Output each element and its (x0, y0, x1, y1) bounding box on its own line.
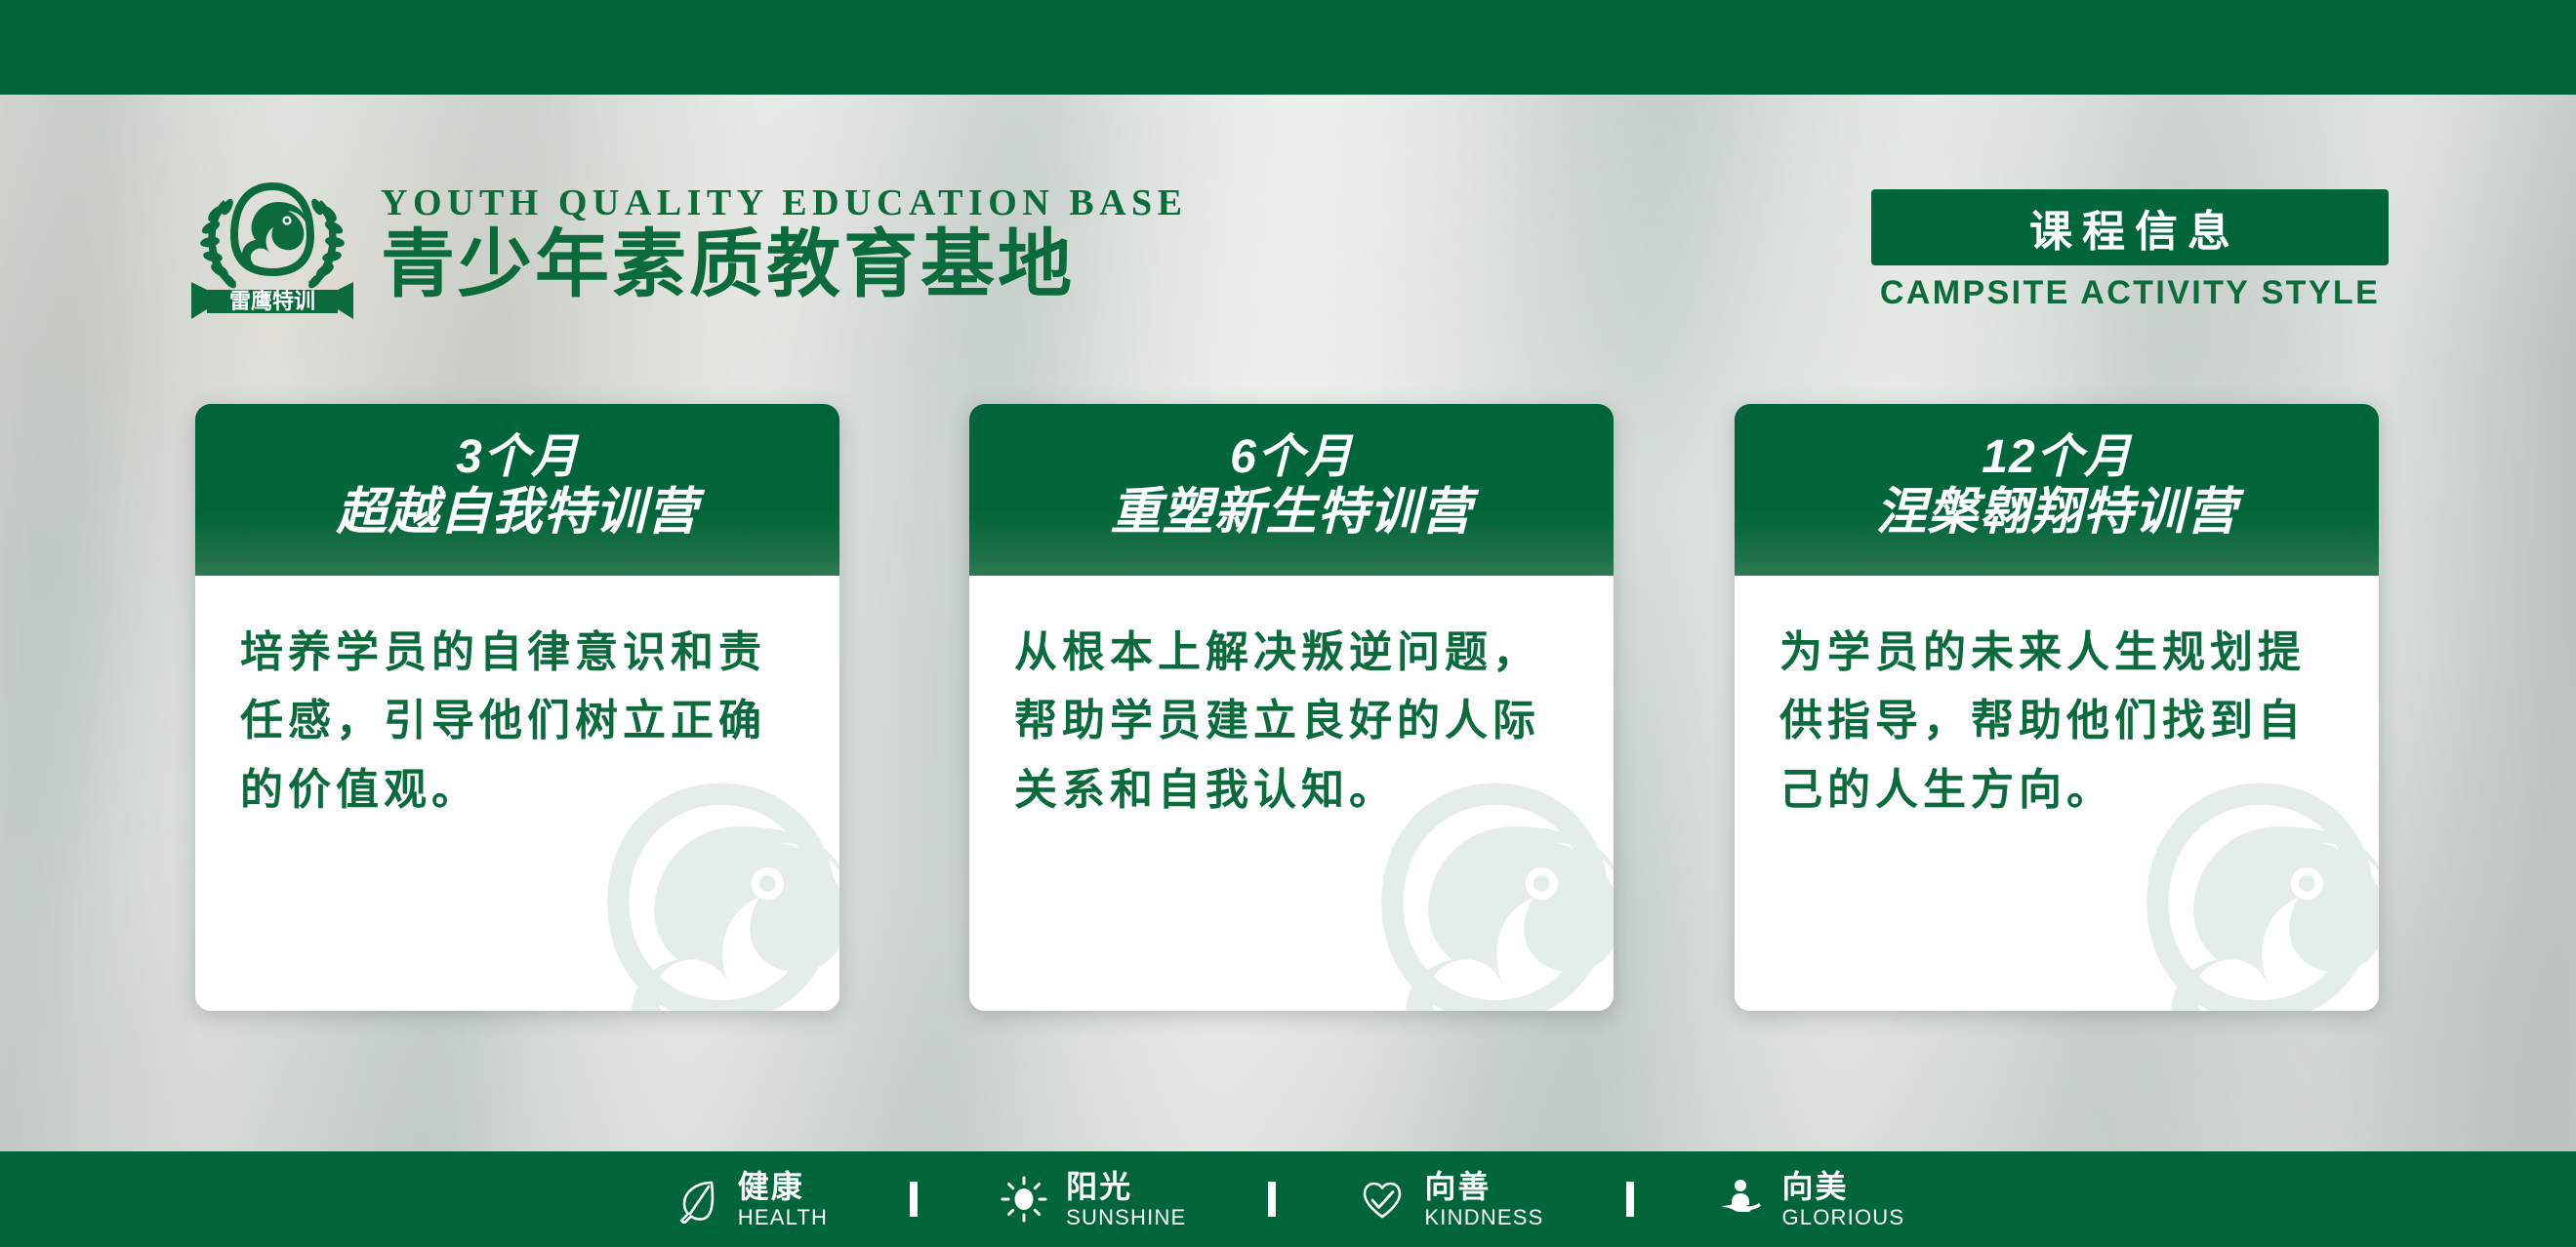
value-item-kindness[interactable]: 向善 KINDNESS (1358, 1171, 1543, 1228)
value-label-en: KINDNESS (1424, 1207, 1543, 1228)
course-cards-row: 3个月 超越自我特训营 培养学员的自律意识和责任感，引导他们树立正确的价值观。 … (0, 404, 2576, 1011)
course-card[interactable]: 3个月 超越自我特训营 培养学员的自律意识和责任感，引导他们树立正确的价值观。 (195, 404, 839, 1011)
value-label-cn: 向善 (1424, 1171, 1543, 1202)
brand-english-tagline: YOUTH QUALITY EDUCATION BASE (381, 181, 1188, 224)
card-duration: 6个月 (1230, 431, 1353, 484)
value-labels: 向善 KINDNESS (1424, 1171, 1543, 1228)
card-name: 涅槃翱翔特训营 (1875, 484, 2237, 541)
card-name: 重塑新生特训营 (1110, 484, 1472, 541)
value-divider (1626, 1182, 1634, 1217)
card-header: 6个月 重塑新生特训营 (969, 404, 1614, 576)
value-labels: 向美 GLORIOUS (1782, 1171, 1905, 1228)
heart-check-icon (1358, 1175, 1407, 1224)
value-label-en: GLORIOUS (1782, 1207, 1905, 1228)
value-divider (1268, 1182, 1276, 1217)
value-item-sunshine[interactable]: 阳光 SUNSHINE (1000, 1171, 1186, 1228)
page-header: 雷鹰特训 YOUTH QUALITY EDUCATION BASE 青少年素质教… (0, 95, 2576, 319)
badge-title-en: CAMPSITE ACTIVITY STYLE (1871, 274, 2389, 312)
card-name: 超越自我特训营 (336, 484, 698, 541)
value-label-cn: 健康 (738, 1171, 828, 1202)
value-divider (910, 1182, 918, 1217)
leaf-icon (672, 1175, 720, 1224)
card-body: 培养学员的自律意识和责任感，引导他们树立正确的价值观。 (195, 576, 839, 1011)
course-info-badge-block: 课程信息 CAMPSITE ACTIVITY STYLE (1871, 189, 2389, 312)
value-label-en: HEALTH (738, 1207, 828, 1228)
card-description: 培养学员的自律意识和责任感，引导他们树立正确的价值观。 (195, 576, 839, 825)
value-label-en: SUNSHINE (1066, 1207, 1186, 1228)
core-values-bar: 健康 HEALTH 阳光 SUNSHINE (0, 1151, 2576, 1247)
hand-person-icon (1716, 1175, 1765, 1224)
card-duration: 12个月 (1982, 431, 2131, 484)
card-header: 3个月 超越自我特训营 (195, 404, 839, 576)
value-labels: 健康 HEALTH (738, 1171, 828, 1228)
badge-title-cn: 课程信息 (2020, 196, 2240, 259)
emblem-ribbon-text: 雷鹰特训 (229, 289, 315, 313)
top-green-bar (0, 0, 2576, 95)
brand-text-block: YOUTH QUALITY EDUCATION BASE 青少年素质教育基地 (381, 181, 1188, 303)
card-description: 从根本上解决叛逆问题，帮助学员建立良好的人际关系和自我认知。 (969, 576, 1614, 825)
card-body: 为学员的未来人生规划提供指导，帮助他们找到自己的人生方向。 (1735, 576, 2379, 1011)
value-labels: 阳光 SUNSHINE (1066, 1171, 1186, 1228)
value-label-cn: 阳光 (1066, 1171, 1186, 1202)
course-card[interactable]: 12个月 涅槃翱翔特训营 为学员的未来人生规划提供指导，帮助他们找到自己的人生方… (1735, 404, 2379, 1011)
course-info-badge: 课程信息 (1871, 189, 2389, 265)
brand-chinese-name: 青少年素质教育基地 (381, 226, 1188, 303)
value-item-health[interactable]: 健康 HEALTH (672, 1171, 828, 1228)
sun-icon (1000, 1175, 1048, 1224)
eagle-laurel-emblem-icon: 雷鹰特训 (185, 165, 359, 321)
card-body: 从根本上解决叛逆问题，帮助学员建立良好的人际关系和自我认知。 (969, 576, 1614, 1011)
brand-block: 雷鹰特训 YOUTH QUALITY EDUCATION BASE 青少年素质教… (185, 165, 1188, 321)
card-duration: 3个月 (456, 431, 579, 484)
course-card[interactable]: 6个月 重塑新生特训营 从根本上解决叛逆问题，帮助学员建立良好的人际关系和自我认… (969, 404, 1614, 1011)
value-item-glorious[interactable]: 向美 GLORIOUS (1716, 1171, 1905, 1228)
card-header: 12个月 涅槃翱翔特训营 (1735, 404, 2379, 576)
value-label-cn: 向美 (1782, 1171, 1905, 1202)
card-description: 为学员的未来人生规划提供指导，帮助他们找到自己的人生方向。 (1735, 576, 2379, 825)
